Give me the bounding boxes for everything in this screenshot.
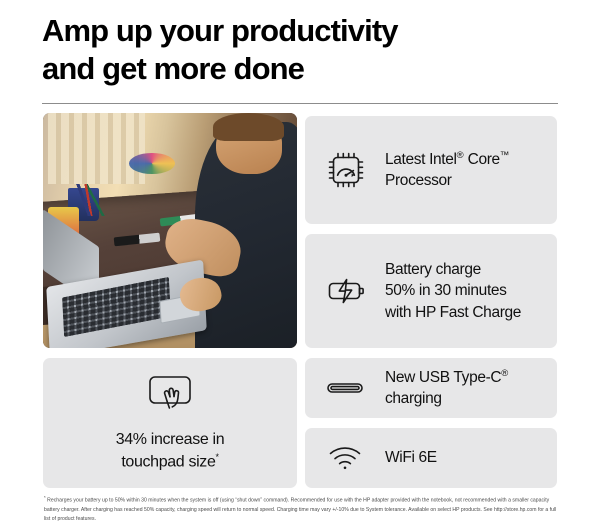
- usb-type-c-icon: [323, 366, 369, 410]
- photo-paint-palette: [129, 153, 175, 174]
- registered-mark: ®: [457, 150, 464, 161]
- cpu-gauge-icon: [323, 148, 369, 192]
- feature-card-wifi-label: WiFi 6E: [385, 447, 437, 468]
- wifi-icon: [323, 436, 369, 480]
- product-lifestyle-photo: [43, 113, 297, 348]
- usbc-text-line2: charging: [385, 390, 442, 407]
- headline-line-1: Amp up your productivity: [42, 13, 398, 48]
- usbc-text-pre: New USB Type-C: [385, 369, 501, 386]
- footnote-marker: *: [216, 452, 219, 462]
- photo-window-blinds: [48, 113, 145, 184]
- feature-card-usbc: New USB Type-C® charging: [305, 358, 557, 418]
- feature-card-battery-label: Battery charge 50% in 30 minutes with HP…: [385, 259, 521, 323]
- feature-card-battery: Battery charge 50% in 30 minutes with HP…: [305, 234, 557, 348]
- feature-card-wifi: WiFi 6E: [305, 428, 557, 488]
- touchpad-gesture-icon: [142, 373, 198, 421]
- trademark-mark: ™: [500, 150, 510, 161]
- promo-banner: Amp up your productivity and get more do…: [0, 0, 600, 532]
- footnote-text: Recharges your battery up to 50% within …: [44, 498, 556, 522]
- battery-text-line2: 50% in 30 minutes: [385, 282, 507, 299]
- page-title: Amp up your productivity and get more do…: [42, 12, 562, 88]
- processor-text-mid: Core: [464, 151, 500, 168]
- headline-line-2: and get more done: [42, 50, 562, 88]
- photo-person-hair: [213, 113, 284, 141]
- feature-card-processor-label: Latest Intel® Core™ Processor: [385, 149, 509, 192]
- feature-card-usbc-label: New USB Type-C® charging: [385, 367, 508, 410]
- feature-card-touchpad-label: 34% increase in touchpad size*: [116, 429, 225, 473]
- registered-mark: ®: [501, 368, 508, 379]
- header-divider: [42, 103, 558, 104]
- footnote-disclaimer: * Recharges your battery up to 50% withi…: [44, 494, 560, 524]
- battery-text-line1: Battery charge: [385, 261, 481, 278]
- feature-card-touchpad: 34% increase in touchpad size*: [43, 358, 297, 488]
- processor-text-line2: Processor: [385, 172, 452, 189]
- battery-text-line3: with HP Fast Charge: [385, 304, 521, 321]
- processor-text-pre: Latest Intel: [385, 151, 457, 168]
- touchpad-text-line1: 34% increase in: [116, 431, 225, 448]
- feature-card-processor: Latest Intel® Core™ Processor: [305, 116, 557, 224]
- battery-bolt-icon: [323, 269, 369, 313]
- touchpad-text-line2: touchpad size: [121, 453, 215, 470]
